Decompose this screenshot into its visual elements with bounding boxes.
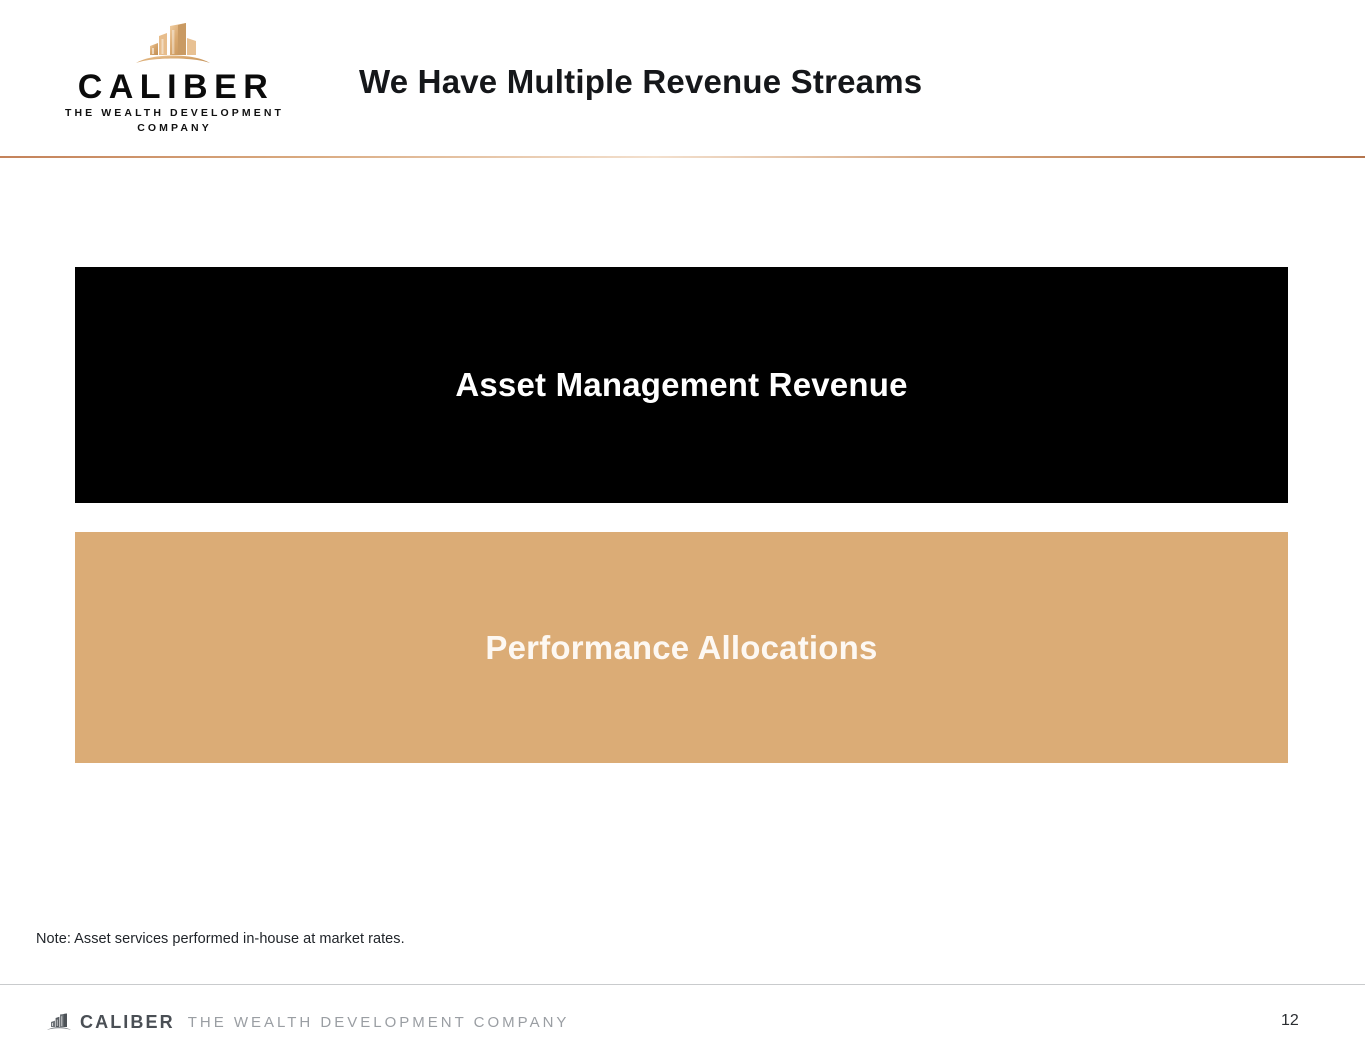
revenue-band-label: Performance Allocations xyxy=(485,629,877,667)
slide-header: CALIBER THE WEALTH DEVELOPMENT COMPANY W… xyxy=(0,0,1365,157)
footnote-text: Note: Asset services performed in-house … xyxy=(36,931,405,947)
footer-tagline: THE WEALTH DEVELOPMENT COMPANY xyxy=(188,1015,570,1030)
footer-divider xyxy=(0,984,1365,985)
header-divider xyxy=(0,156,1365,158)
page-title: We Have Multiple Revenue Streams xyxy=(359,63,922,101)
slide-canvas: CALIBER THE WEALTH DEVELOPMENT COMPANY W… xyxy=(0,0,1365,1055)
brand-logo: CALIBER THE WEALTH DEVELOPMENT COMPANY xyxy=(48,22,298,136)
brand-tagline-line-2: COMPANY xyxy=(48,121,298,136)
building-skyline-icon xyxy=(46,1013,72,1031)
footer-brand: CALIBER THE WEALTH DEVELOPMENT COMPANY xyxy=(46,1010,569,1034)
page-number: 12 xyxy=(1281,1012,1299,1030)
revenue-band-label: Asset Management Revenue xyxy=(455,366,907,404)
revenue-band-asset-management: Asset Management Revenue xyxy=(75,267,1288,503)
brand-wordmark: CALIBER xyxy=(48,70,298,106)
brand-tagline-line-1: THE WEALTH DEVELOPMENT xyxy=(48,106,298,121)
footer-wordmark: CALIBER xyxy=(80,1013,175,1031)
revenue-band-performance-allocations: Performance Allocations xyxy=(75,532,1288,763)
building-skyline-icon xyxy=(130,22,216,66)
